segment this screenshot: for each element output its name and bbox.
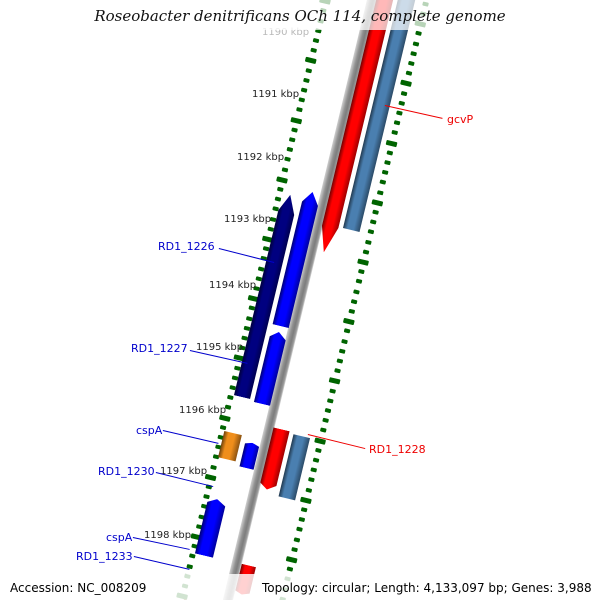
ruler-tick-dash — [391, 130, 398, 135]
ruler-tick-dash — [296, 527, 303, 532]
ruler-tick-dash — [394, 120, 401, 125]
ruler-tick-dash — [210, 464, 217, 469]
genome-viewer: 1190 kbp1191 kbp1192 kbp1193 kbp1194 kbp… — [0, 0, 600, 600]
genome-track-layer[interactable] — [0, 0, 600, 600]
ruler-tick-dash — [286, 567, 293, 572]
ruler-tick-dash — [398, 100, 405, 105]
ruler-tick-dash — [306, 487, 313, 492]
ruler-tick-dash — [413, 41, 420, 46]
ruler-tick-dash — [386, 139, 398, 146]
ruler-tick-dash — [284, 157, 291, 162]
ruler-tick-dash — [305, 68, 312, 73]
ruler-tick-dash — [289, 137, 296, 142]
ruler-tick-dash — [276, 176, 288, 183]
ruler-tick-dash — [329, 388, 336, 393]
feature-label[interactable]: cspA — [106, 532, 132, 543]
ruler-tick-dash — [301, 507, 308, 512]
ruler-tick-dash — [291, 127, 298, 132]
ruler-tick-dash — [336, 358, 343, 363]
genome-summary-text: Topology: circular; Length: 4,133,097 bp… — [262, 581, 592, 595]
feature-label[interactable]: gcvP — [447, 114, 473, 125]
ruler-tick-dash — [357, 258, 369, 265]
ruler-tick-dash — [343, 318, 355, 325]
ruler-tick-label: 1194 kbp — [209, 281, 256, 291]
ruler-tick-dash — [408, 61, 415, 66]
ruler-tick-dash — [415, 31, 422, 36]
ruler-tick-dash — [313, 38, 320, 43]
feature-label[interactable]: RD1_1226 — [158, 241, 215, 252]
ruler-tick-dash — [290, 117, 302, 124]
ruler-tick-dash — [351, 299, 358, 304]
ruler-tick-dash — [315, 448, 322, 453]
ruler-tick-dash — [353, 289, 360, 294]
ruler-tick-dash — [322, 418, 329, 423]
ruler-tick-dash — [363, 249, 370, 254]
ruler-tick-dash — [358, 269, 365, 274]
ruler-tick-dash — [303, 78, 310, 83]
ruler-tick-dash — [344, 329, 351, 334]
ruler-tick-dash — [348, 309, 355, 314]
ruler-tick-dash — [286, 556, 298, 563]
ruler-tick-label: 1191 kbp — [252, 90, 299, 100]
ruler-tick-dash — [341, 339, 348, 344]
ruler-tick-dash — [400, 80, 412, 87]
ruler-tick-dash — [227, 395, 234, 400]
ruler-tick-label: 1195 kbp — [196, 343, 243, 353]
ruler-tick-dash — [382, 170, 389, 175]
ruler-tick-dash — [286, 147, 293, 152]
ruler-tick-dash — [315, 28, 322, 33]
ruler-tick-dash — [313, 458, 320, 463]
ruler-tick-label: 1190 kbp — [262, 28, 309, 38]
ruler-tick-dash — [410, 51, 417, 56]
ruler-tick-dash — [370, 219, 377, 224]
ruler-tick-dash — [220, 425, 227, 430]
ruler-tick-dash — [396, 110, 403, 115]
ruler-tick-dash — [356, 279, 363, 284]
ruler-tick-label: 1193 kbp — [224, 215, 271, 225]
ruler-tick-dash — [384, 160, 391, 165]
ruler-tick-dash — [334, 368, 341, 373]
ruler-tick-dash — [301, 88, 308, 93]
feature-label[interactable]: RD1_1233 — [76, 551, 133, 562]
ruler-tick-dash — [377, 190, 384, 195]
ruler-tick-dash — [277, 187, 284, 192]
ruler-tick-dash — [379, 180, 386, 185]
ruler-tick-dash — [327, 398, 334, 403]
ruler-tick-dash — [189, 554, 196, 559]
ruler-tick-dash — [308, 477, 315, 482]
ruler-tick-dash — [325, 408, 332, 413]
ruler-tick-dash — [371, 199, 383, 206]
ruler-tick-dash — [365, 239, 372, 244]
feature-label[interactable]: RD1_1230 — [98, 466, 155, 477]
ruler-tick-dash — [298, 97, 305, 102]
ruler-tick-dash — [320, 428, 327, 433]
accession-text: Accession: NC_008209 — [10, 581, 146, 595]
ruler-tick-dash — [294, 537, 301, 542]
ruler-tick-dash — [406, 71, 413, 76]
ruler-tick-label: 1198 kbp — [144, 531, 191, 541]
ruler-tick-dash — [282, 167, 289, 172]
ruler-tick-dash — [422, 1, 429, 6]
ruler-tick-dash — [319, 0, 331, 5]
ruler-tick-dash — [296, 107, 303, 112]
ruler-tick-label: 1192 kbp — [237, 153, 284, 163]
ruler-tick-dash — [367, 229, 374, 234]
ruler-tick-dash — [339, 348, 346, 353]
feature-label[interactable]: cspA — [136, 425, 162, 436]
ruler-tick-dash — [279, 596, 286, 600]
ruler-tick-dash — [401, 91, 408, 96]
ruler-tick-dash — [372, 210, 379, 215]
ruler-tick-dash — [305, 57, 317, 64]
ruler-tick-dash — [310, 467, 317, 472]
ruler-tick-dash — [310, 48, 317, 53]
ruler-tick-dash — [329, 377, 341, 384]
ruler-tick-dash — [386, 150, 393, 155]
feature-label[interactable]: RD1_1228 — [369, 444, 426, 455]
ruler-tick-dash — [182, 583, 189, 588]
feature-label[interactable]: RD1_1227 — [131, 343, 188, 354]
ruler-tick-dash — [184, 574, 191, 579]
ruler-tick-label: 1196 kbp — [179, 406, 226, 416]
ruler-tick-dash — [300, 496, 312, 503]
ruler-tick-dash — [291, 547, 298, 552]
page-title: Roseobacter denitrificans OCh 114, compl… — [0, 7, 600, 25]
ruler-tick-dash — [298, 517, 305, 522]
